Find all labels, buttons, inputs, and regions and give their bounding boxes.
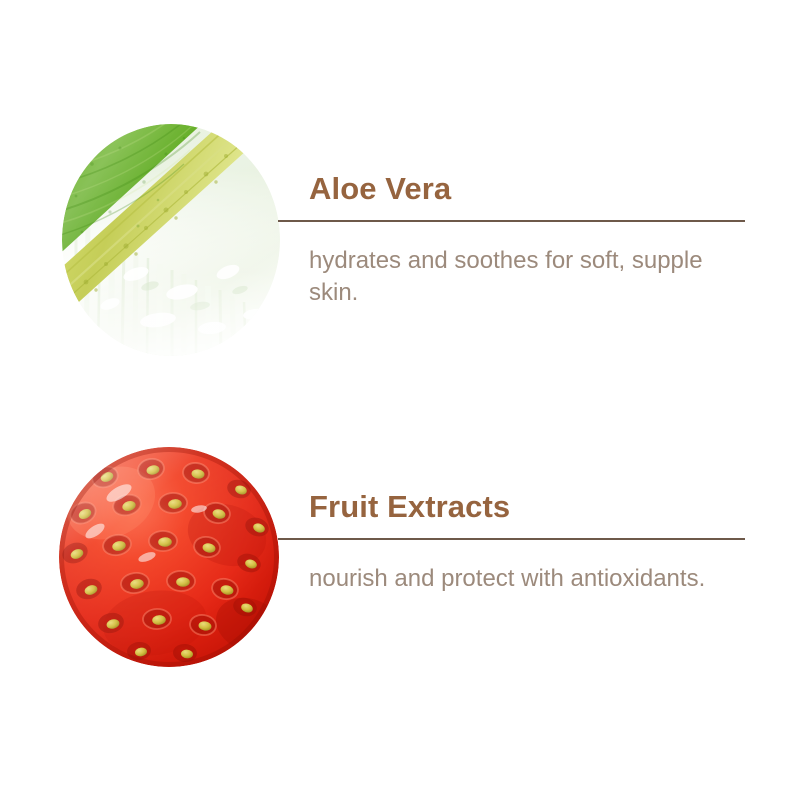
feature-title-aloe-vera: Aloe Vera <box>309 172 749 206</box>
feature-title-fruit-extracts: Fruit Extracts <box>309 490 749 524</box>
feature-description-aloe-vera: hydrates and soothes for soft, supple sk… <box>309 245 729 308</box>
aloe-vera-copy: Aloe Vera hydrates and soothes for soft,… <box>309 172 749 206</box>
fruit-extracts-copy: Fruit Extracts nourish and protect with … <box>309 490 749 524</box>
divider-fruit-extracts <box>278 538 745 540</box>
divider-aloe-vera <box>278 220 745 222</box>
aloe-vera-leaf-photo <box>62 124 280 356</box>
strawberry-macro-photo <box>59 447 279 667</box>
feature-description-fruit-extracts: nourish and protect with antioxidants. <box>309 563 729 595</box>
ingredient-highlights-panel: Aloe Vera hydrates and soothes for soft,… <box>0 0 800 800</box>
